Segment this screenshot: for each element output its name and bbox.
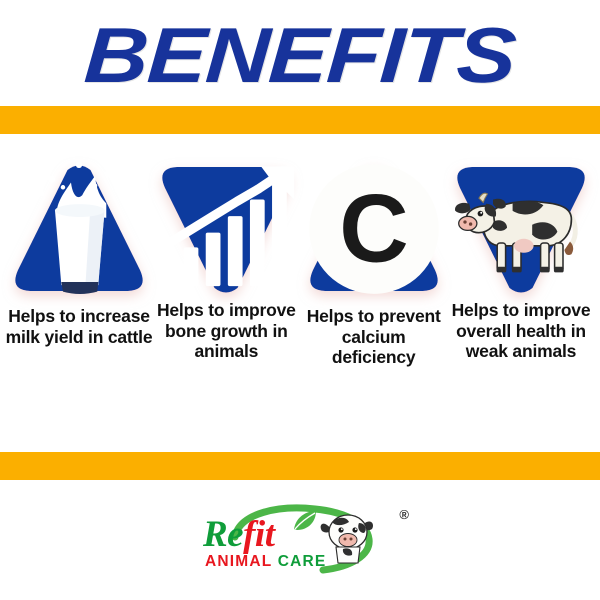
benefit-card-overall-health: Helps to improve overall health in weak … (450, 160, 592, 362)
benefit-icon-tile (156, 160, 296, 298)
top-yellow-divider (0, 106, 600, 134)
benefit-icon-tile (9, 160, 149, 298)
benefit-card-bone-growth: Helps to improve bone growth in animals (155, 160, 297, 362)
poster-header: BENEFITS (0, 0, 600, 106)
benefit-caption: Helps to improve bone growth in animals (151, 300, 301, 362)
registered-trademark: ® (399, 507, 409, 522)
benefits-list: Helps to increase milk yield in cattle (0, 160, 600, 440)
logo-tagline: ANIMAL CARE (205, 553, 326, 571)
logo-word-re: Re (203, 514, 243, 555)
benefit-caption: Helps to improve overall health in weak … (446, 300, 596, 362)
bottom-yellow-divider (0, 452, 600, 480)
benefit-caption: Helps to prevent calcium deficiency (299, 306, 449, 368)
benefit-card-milk-yield: Helps to increase milk yield in cattle (8, 160, 150, 347)
benefit-card-calcium: C Helps to prevent calcium deficiency (303, 160, 445, 368)
benefits-poster: BENEFITS (0, 0, 600, 600)
benefit-caption: Helps to increase milk yield in cattle (4, 306, 154, 347)
logo-word-fit: fit (243, 514, 274, 555)
logo-wordmark: Refit (203, 515, 275, 555)
benefit-icon-tile (451, 160, 591, 298)
triangle-up-shape (9, 160, 149, 298)
benefit-icon-tile: C (304, 160, 444, 298)
triangle-down-shape (156, 160, 296, 298)
logo-tagline-animal: ANIMAL (205, 553, 272, 570)
logo-cow-icon (319, 511, 377, 565)
brand-logo: Refit ANIMAL CARE (0, 496, 600, 586)
triangle-down-shape (451, 160, 591, 298)
leaf-icon (290, 509, 320, 535)
page-title: BENEFITS (82, 16, 517, 94)
triangle-up-shape (304, 160, 444, 298)
